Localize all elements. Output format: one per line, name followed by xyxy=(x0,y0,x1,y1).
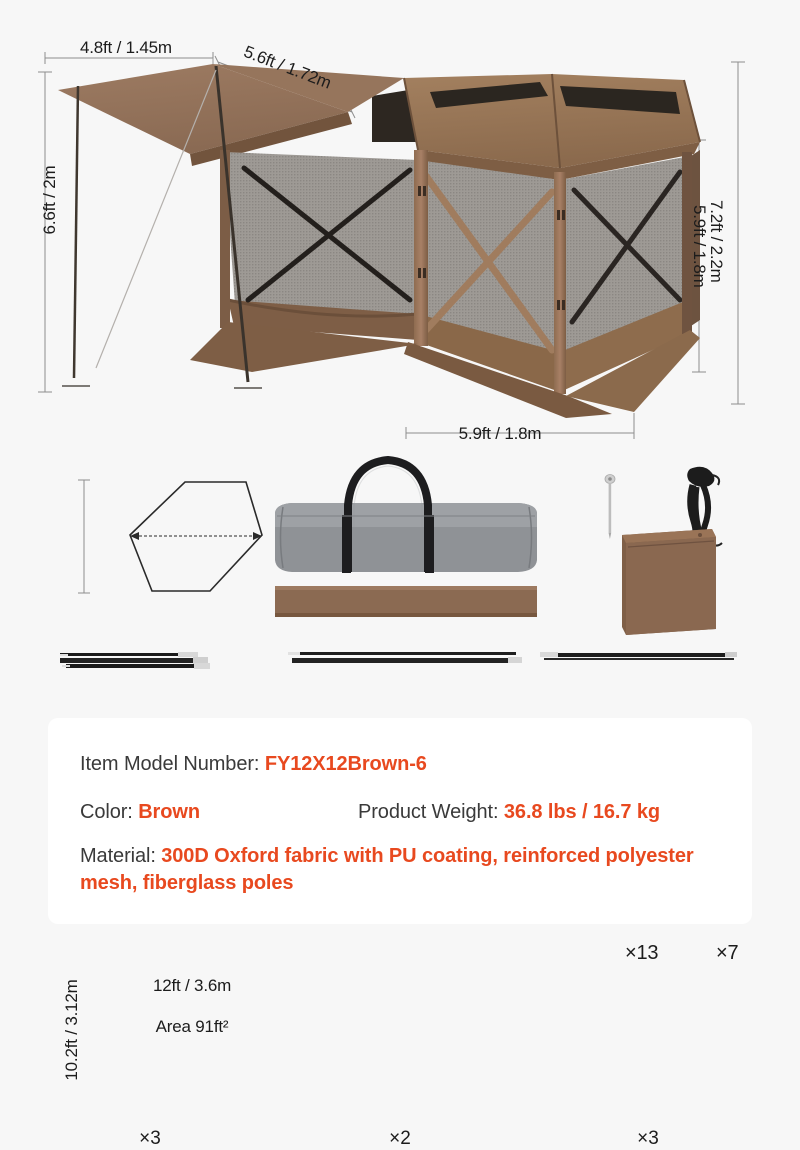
qty-pole-short: ×3 xyxy=(139,1128,161,1150)
spec-model-label: Item Model Number: xyxy=(80,753,259,775)
pole-long xyxy=(288,652,522,663)
dim-pole-height: 6.6ft / 2m xyxy=(40,166,60,235)
spec-model-value: FY12X12Brown-6 xyxy=(265,753,427,775)
qty-pole-medium: ×3 xyxy=(637,1128,659,1150)
folded-fabric-illustration xyxy=(622,529,716,635)
spec-weight-row: Product Weight: 36.8 lbs / 16.7 kg xyxy=(358,801,660,824)
fabric-strip-illustration xyxy=(275,586,537,617)
spec-model-row: Item Model Number: FY12X12Brown-6 xyxy=(80,753,427,776)
qty-guy-rope: ×7 xyxy=(716,942,738,965)
parts-illustrations xyxy=(0,455,800,705)
parts-breakdown-row: 10.2ft / 3.12m 12ft / 3.6m Area 91ft² ×1… xyxy=(0,455,800,705)
spec-material-row: Material: 300D Oxford fabric with PU coa… xyxy=(80,843,730,896)
dim-hexagon-width: 12ft / 3.6m xyxy=(153,976,231,996)
label-hexagon-area: Area 91ft² xyxy=(156,1017,229,1037)
carry-bag-illustration xyxy=(275,460,537,573)
leg-right-front xyxy=(554,172,566,394)
spec-weight-value: 36.8 lbs / 16.7 kg xyxy=(504,801,660,823)
awning-support-pole-left xyxy=(74,86,78,378)
spec-material-value: 300D Oxford fabric with PU coating, rein… xyxy=(80,845,694,894)
pole-bundle-short xyxy=(60,652,210,669)
spec-color-row: Color: Brown xyxy=(80,801,200,824)
dim-total-height: 7.2ft / 2.2m xyxy=(706,200,726,283)
hero-dimension-diagram: 4.8ft / 1.45m 5.6ft / 1.72m 6.6ft / 2m 7… xyxy=(0,0,800,460)
qty-tent-stake: ×13 xyxy=(625,942,658,965)
dim-awning-width: 4.8ft / 1.45m xyxy=(80,38,172,58)
pole-medium xyxy=(540,652,737,660)
dim-side-height: 5.9ft / 1.8m xyxy=(689,205,709,288)
spec-material-label: Material: xyxy=(80,845,156,867)
leg-center-front xyxy=(414,150,428,346)
specification-card: Item Model Number: FY12X12Brown-6 Color:… xyxy=(48,718,752,924)
dim-base-width: 5.9ft / 1.8m xyxy=(459,424,542,444)
dim-hexagon-height: 10.2ft / 3.12m xyxy=(62,979,82,1080)
qty-pole-long: ×2 xyxy=(389,1128,411,1150)
hexagon-footprint xyxy=(78,480,262,593)
tent-stake-illustration xyxy=(605,475,615,540)
spec-weight-label: Product Weight: xyxy=(358,801,498,823)
spec-color-value: Brown xyxy=(138,801,200,823)
spec-color-label: Color: xyxy=(80,801,133,823)
gazebo-illustration xyxy=(0,0,800,460)
